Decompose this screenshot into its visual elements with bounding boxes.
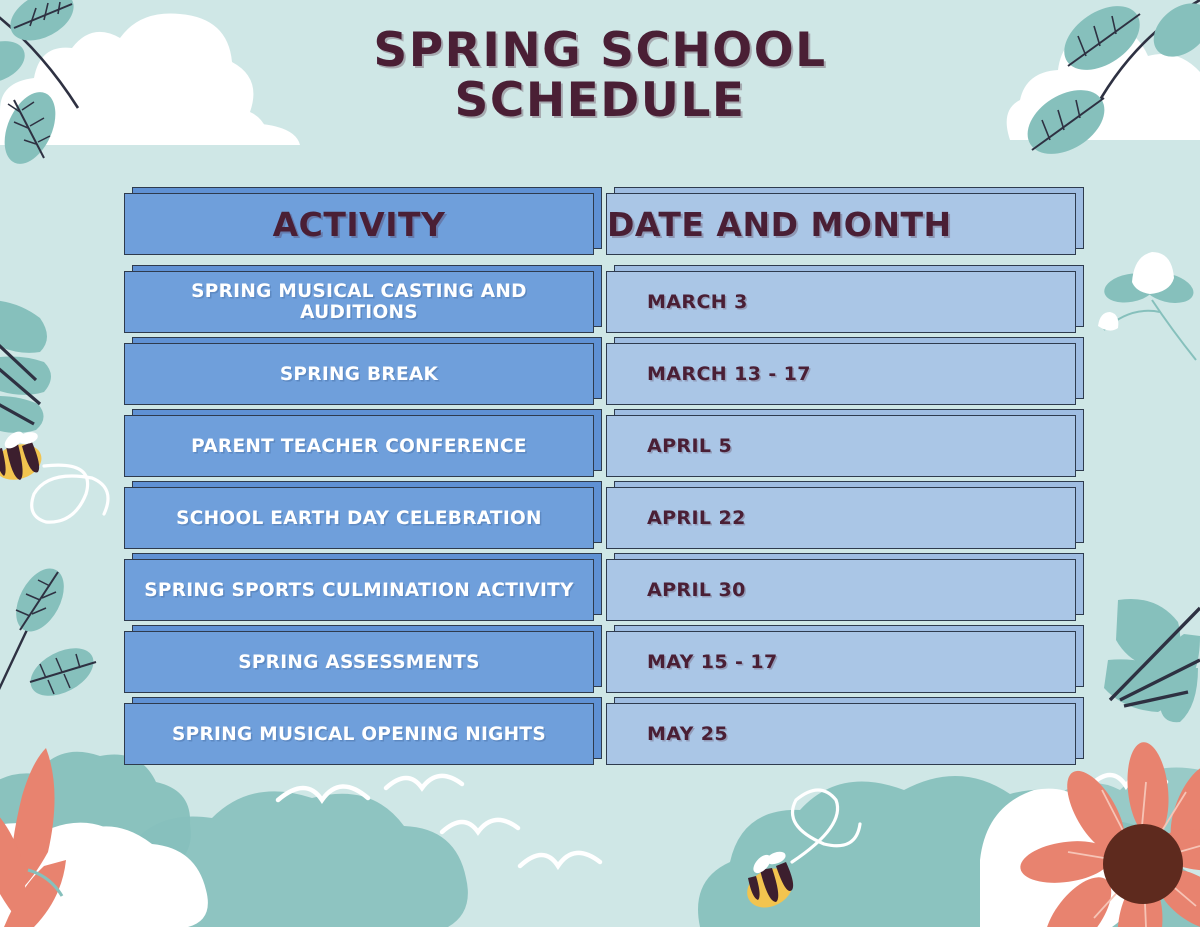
cell-face: MARCH 3 [606, 271, 1076, 333]
table-row: SPRING ASSESSMENTS MAY 15 - 17 [124, 631, 1076, 703]
activity-label: SCHOOL EARTH DAY CELEBRATION [162, 508, 556, 529]
cell-face: APRIL 22 [606, 487, 1076, 549]
table-row: PARENT TEACHER CONFERENCE APRIL 5 [124, 415, 1076, 487]
activity-label: SPRING ASSESSMENTS [224, 652, 494, 673]
cell-face: SPRING MUSICAL OPENING NIGHTS [124, 703, 594, 765]
activity-cell: SPRING ASSESSMENTS [124, 631, 594, 693]
cell-face: MARCH 13 - 17 [606, 343, 1076, 405]
date-cell: MARCH 13 - 17 [606, 343, 1076, 405]
date-cell: MAY 15 - 17 [606, 631, 1076, 693]
date-label: MAY 25 [607, 723, 728, 745]
table-row: SPRING SPORTS CULMINATION ACTIVITY APRIL… [124, 559, 1076, 631]
table-row: SCHOOL EARTH DAY CELEBRATION APRIL 22 [124, 487, 1076, 559]
title-line-2: SCHEDULE [0, 76, 1200, 126]
bee-left [0, 428, 46, 485]
cell-face: MAY 15 - 17 [606, 631, 1076, 693]
cell-face: PARENT TEACHER CONFERENCE [124, 415, 594, 477]
activity-cell: SPRING MUSICAL OPENING NIGHTS [124, 703, 594, 765]
activity-cell: SCHOOL EARTH DAY CELEBRATION [124, 487, 594, 549]
date-label: MARCH 3 [607, 291, 748, 313]
schedule-table: ACTIVITY DATE AND MONTH SPRING MUSICAL C… [124, 193, 1076, 775]
date-cell: MARCH 3 [606, 271, 1076, 333]
activity-cell: SPRING BREAK [124, 343, 594, 405]
header-cell-date: DATE AND MONTH [606, 193, 1076, 255]
cell-face: APRIL 5 [606, 415, 1076, 477]
table-row: SPRING MUSICAL CASTING AND AUDITIONS MAR… [124, 271, 1076, 343]
activity-label: SPRING SPORTS CULMINATION ACTIVITY [130, 580, 588, 601]
cell-face: DATE AND MONTH [606, 193, 1076, 255]
date-label: APRIL 22 [607, 507, 746, 529]
date-label: APRIL 30 [607, 579, 746, 601]
date-label: MAY 15 - 17 [607, 651, 778, 673]
white-flower-right [1098, 252, 1197, 360]
activity-label: SPRING MUSICAL OPENING NIGHTS [158, 724, 560, 745]
leaf-frond-left [0, 300, 51, 433]
activity-label: SPRING BREAK [266, 364, 452, 385]
activity-label: SPRING MUSICAL CASTING AND AUDITIONS [125, 281, 593, 323]
date-label: APRIL 5 [607, 435, 732, 457]
activity-label: PARENT TEACHER CONFERENCE [177, 436, 541, 457]
title-line-1: SPRING SCHOOL [0, 26, 1200, 76]
cell-face: SPRING ASSESSMENTS [124, 631, 594, 693]
date-cell: APRIL 30 [606, 559, 1076, 621]
cell-face: MAY 25 [606, 703, 1076, 765]
date-label: MARCH 13 - 17 [607, 363, 811, 385]
activity-cell: SPRING MUSICAL CASTING AND AUDITIONS [124, 271, 594, 333]
leaf-frond-right [1104, 599, 1200, 722]
cell-face: SPRING MUSICAL CASTING AND AUDITIONS [124, 271, 594, 333]
table-row: SPRING MUSICAL OPENING NIGHTS MAY 25 [124, 703, 1076, 775]
cell-face: APRIL 30 [606, 559, 1076, 621]
activity-cell: PARENT TEACHER CONFERENCE [124, 415, 594, 477]
date-cell: MAY 25 [606, 703, 1076, 765]
activity-cell: SPRING SPORTS CULMINATION ACTIVITY [124, 559, 594, 621]
leaf-branch-left-lower [0, 561, 101, 706]
date-cell: APRIL 5 [606, 415, 1076, 477]
cell-face: SPRING SPORTS CULMINATION ACTIVITY [124, 559, 594, 621]
header-label-date: DATE AND MONTH [607, 205, 952, 244]
table-row: SPRING BREAK MARCH 13 - 17 [124, 343, 1076, 415]
header-label-activity: ACTIVITY [273, 205, 446, 244]
poster-canvas: SPRING SCHOOL SCHEDULE ACTIVITY DATE AND… [0, 0, 1200, 927]
cell-face: SCHOOL EARTH DAY CELEBRATION [124, 487, 594, 549]
cell-face: ACTIVITY [124, 193, 594, 255]
date-cell: APRIL 22 [606, 487, 1076, 549]
cell-face: SPRING BREAK [124, 343, 594, 405]
bee-trail-left [32, 465, 108, 522]
header-cell-activity: ACTIVITY [124, 193, 594, 255]
table-header-row: ACTIVITY DATE AND MONTH [124, 193, 1076, 271]
page-title: SPRING SCHOOL SCHEDULE [0, 26, 1200, 126]
